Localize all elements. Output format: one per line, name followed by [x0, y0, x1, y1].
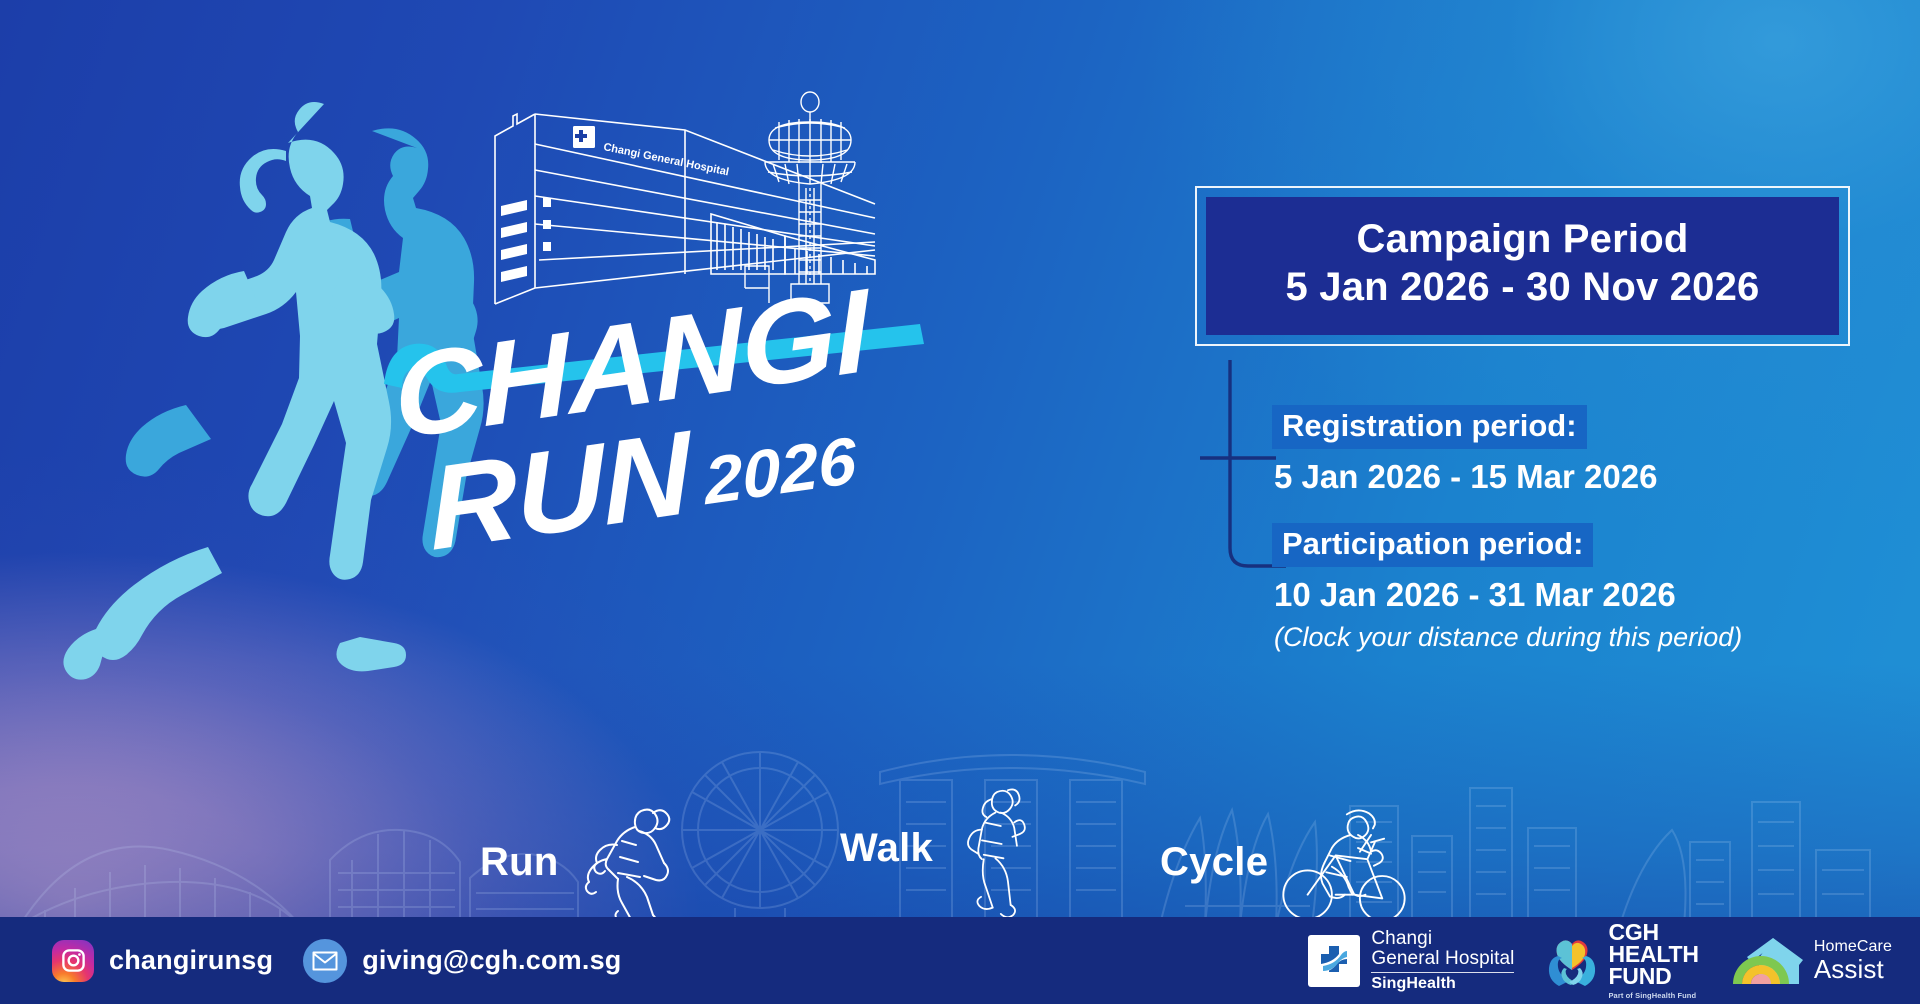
email-contact[interactable]: giving@cgh.com.sg — [303, 939, 621, 983]
cgh-health-fund-logo: CGH HEALTH FUND Part of SingHealth Fund — [1544, 922, 1698, 999]
cgh-wordmark: Changi General Hospital SingHealth — [1371, 929, 1514, 992]
walker-icon — [939, 783, 1059, 913]
activity-cycle-label: Cycle — [1160, 840, 1268, 885]
changi-run-logo: CHANGI RUN 2026 — [360, 300, 980, 590]
health-fund-line3: FUND — [1608, 966, 1698, 988]
health-fund-wordmark: CGH HEALTH FUND Part of SingHealth Fund — [1608, 922, 1698, 999]
email-address[interactable]: giving@cgh.com.sg — [362, 945, 621, 976]
campaign-info-panel: Campaign Period 5 Jan 2026 - 30 Nov 2026 — [1195, 186, 1855, 346]
cgh-divider — [1371, 972, 1514, 973]
participation-period-dates: 10 Jan 2026 - 31 Mar 2026 — [1272, 575, 1872, 615]
heart-in-hands-icon — [1544, 936, 1600, 986]
participation-period-note: (Clock your distance during this period) — [1272, 622, 1872, 653]
activity-walk: Walk — [840, 783, 1059, 913]
homecare-assist-wordmark: HomeCare Assist — [1814, 939, 1892, 982]
instagram-icon[interactable] — [52, 940, 94, 982]
footer-contacts: changirunsg giving@cgh.com.sg — [0, 939, 621, 983]
cyclist-icon — [1274, 797, 1414, 927]
participation-period-label: Participation period: — [1272, 523, 1593, 567]
cgh-line3: SingHealth — [1371, 976, 1514, 992]
instagram-contact[interactable]: changirunsg — [52, 940, 273, 982]
registration-period-label: Registration period: — [1272, 405, 1587, 449]
activity-run: Run — [480, 797, 685, 927]
logo-year-text: 2026 — [703, 426, 858, 526]
health-fund-tagline: Part of SingHealth Fund — [1608, 992, 1698, 999]
logo-run-text: RUN — [427, 417, 693, 566]
activity-walk-label: Walk — [840, 826, 933, 871]
homecare-line1: HomeCare — [1814, 939, 1892, 955]
changi-general-hospital-logo: Changi General Hospital SingHealth — [1308, 929, 1514, 992]
cgh-line2: General Hospital — [1371, 949, 1514, 968]
registration-period-block: Registration period: 5 Jan 2026 - 15 Mar… — [1272, 405, 1872, 497]
house-rainbow-icon — [1729, 934, 1807, 988]
activity-run-label: Run — [480, 840, 559, 885]
instagram-handle[interactable]: changirunsg — [109, 945, 273, 976]
homecare-assist-logo: HomeCare Assist — [1729, 934, 1892, 988]
participation-period-block: Participation period: 10 Jan 2026 - 31 M… — [1272, 523, 1872, 654]
runner-icon — [565, 797, 685, 927]
period-blocks: Registration period: 5 Jan 2026 - 15 Mar… — [1272, 405, 1872, 679]
footer-bar: changirunsg giving@cgh.com.sg — [0, 917, 1920, 1004]
footer-partner-logos: Changi General Hospital SingHealth — [1308, 917, 1892, 1004]
changi-run-banner: Changi General Hospital — [0, 0, 1920, 1004]
activity-cycle: Cycle — [1160, 797, 1414, 927]
campaign-period-frame: Campaign Period 5 Jan 2026 - 30 Nov 2026 — [1195, 186, 1850, 346]
campaign-period-box: Campaign Period 5 Jan 2026 - 30 Nov 2026 — [1206, 197, 1839, 335]
envelope-icon[interactable] — [303, 939, 347, 983]
homecare-line2: Assist — [1814, 956, 1892, 982]
cgh-facade-sign — [573, 126, 595, 148]
registration-period-dates: 5 Jan 2026 - 15 Mar 2026 — [1272, 457, 1872, 497]
cgh-line1: Changi — [1371, 929, 1514, 948]
campaign-period-title: Campaign Period — [1216, 217, 1829, 262]
female-runner-silhouette — [63, 102, 406, 680]
cgh-cross-mark-icon — [1308, 935, 1360, 987]
campaign-period-dates: 5 Jan 2026 - 30 Nov 2026 — [1216, 264, 1829, 311]
